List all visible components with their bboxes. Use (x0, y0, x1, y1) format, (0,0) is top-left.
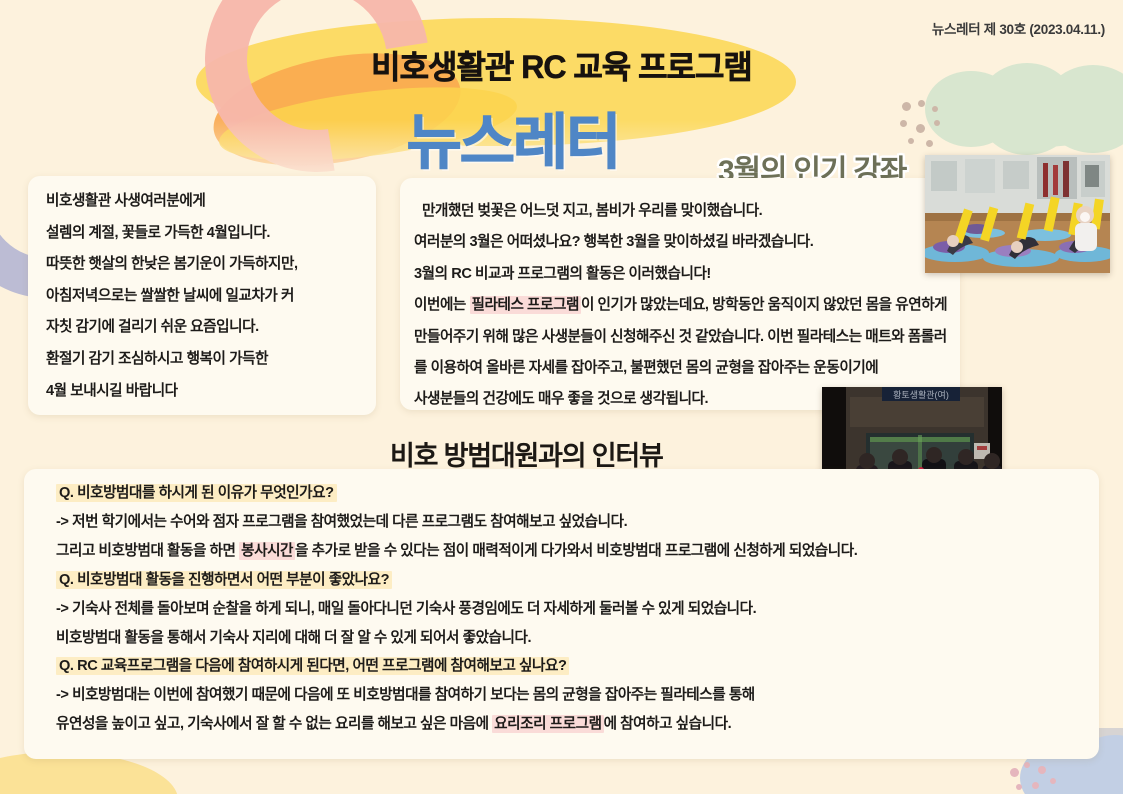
greeting-line: 환절기 감기 조심하시고 행복이 가득한 (46, 344, 298, 376)
greeting-line: 따뜻한 햇살의 한낮은 봄기운이 가득하지만, (46, 249, 298, 281)
pilates-class-photo (925, 155, 1110, 273)
issue-number: 뉴스레터 제 30호 (2023.04.11.) (932, 18, 1105, 38)
interview-question-1: Q. 비호방범대를 하시게 된 이유가 무엇인가요? (56, 479, 857, 508)
popular-line: 만들어주기 위해 많은 사생분들이 신청해주신 것 같았습니다. 이번 필라테스… (414, 322, 947, 353)
interview-answer-3-line-2: 유연성을 높이고 싶고, 기숙사에서 잘 할 수 없는 요리를 해보고 싶은 마… (56, 710, 857, 739)
dot-cluster-bottom-right (1010, 762, 1070, 794)
answer-part: 에 참여하고 싶습니다. (604, 716, 732, 732)
page-subtitle: 뉴스레터 (298, 94, 728, 181)
popular-line-part: 이 인기가 많았는데요, 방학동안 움직이지 않았던 몸을 유연하게 (581, 297, 947, 313)
interview-answer-2-line-1: -> 기숙사 전체를 돌아보며 순찰을 하게 되니, 매일 돌아다니던 기숙사 … (56, 595, 857, 624)
interview-question-2: Q. 비호방범대 활동을 진행하면서 어떤 부분이 좋았나요? (56, 566, 857, 595)
greeting-line: 아침저녁으로는 쌀쌀한 날씨에 일교차가 커 (46, 281, 298, 313)
greeting-line: 자칫 감기에 걸리기 쉬운 요즘입니다. (46, 312, 298, 344)
dot-cluster-top-right (900, 100, 960, 150)
highlight-pilates-program: 필라테스 프로그램 (470, 296, 581, 314)
question-1-text: Q. 비호방범대를 하시게 된 이유가 무엇인가요? (56, 484, 337, 502)
greeting-text-block: 비호생활관 사생여러분에게 설렘의 계절, 꽃들로 가득한 4월입니다. 따뜻한… (46, 186, 298, 407)
answer-part: 그리고 비호방범대 활동을 하면 (56, 543, 239, 559)
interview-section-title: 비호 방범대원과의 인터뷰 (390, 434, 663, 473)
interview-qa-block: Q. 비호방범대를 하시게 된 이유가 무엇인가요? -> 저번 학기에서는 수… (56, 479, 857, 739)
greeting-lead: 비호생활관 사생여러분에게 (46, 186, 298, 218)
highlight-volunteer-hours: 봉사시간 (239, 542, 295, 560)
highlight-cooking-program: 요리조리 프로그램 (492, 715, 603, 733)
question-3-text: Q. RC 교육프로그램을 다음에 참여하시게 된다면, 어떤 프로그램에 참여… (56, 657, 569, 675)
newsletter-page: 뉴스레터 제 30호 (2023.04.11.) 비호생활관 RC 교육 프로그… (0, 0, 1123, 794)
interview-question-3: Q. RC 교육프로그램을 다음에 참여하시게 된다면, 어떤 프로그램에 참여… (56, 652, 857, 681)
popular-line: 를 이용하여 올바른 자세를 잡아주고, 불편했던 몸의 균형을 잡아주는 운동… (414, 353, 947, 384)
popular-line: 만개했던 벚꽃은 어느덧 지고, 봄비가 우리를 맞이했습니다. (414, 196, 947, 227)
interview-answer-1-line-2: 그리고 비호방범대 활동을 하면 봉사시간을 추가로 받을 수 있다는 점이 매… (56, 537, 857, 566)
greeting-line: 설렘의 계절, 꽃들로 가득한 4월입니다. (46, 218, 298, 250)
answer-part: 유연성을 높이고 싶고, 기숙사에서 잘 할 수 없는 요리를 해보고 싶은 마… (56, 716, 492, 732)
popular-line: 여러분의 3월은 어떠셨나요? 행복한 3월을 맞이하셨길 바라겠습니다. (414, 227, 947, 258)
popular-line-highlighted: 이번에는 필라테스 프로그램이 인기가 많았는데요, 방학동안 움직이지 않았던… (414, 290, 947, 321)
popular-line-emphasis: 3월의 RC 비교과 프로그램의 활동은 이러했습니다! (414, 259, 947, 290)
popular-line-part: 이번에는 (414, 297, 470, 313)
interview-answer-2-line-2: 비호방범대 활동을 통해서 기숙사 지리에 대해 더 잘 알 수 있게 되어서 … (56, 624, 857, 653)
question-2-text: Q. 비호방범대 활동을 진행하면서 어떤 부분이 좋았나요? (56, 571, 392, 589)
pilates-photo-graphic (925, 155, 1110, 273)
answer-part: 을 추가로 받을 수 있다는 점이 매력적이게 다가와서 비호방범대 프로그램에… (295, 543, 857, 559)
interview-answer-3-line-1: -> 비호방범대는 이번에 참여했기 때문에 다음에 또 비호방범대를 참여하기… (56, 681, 857, 710)
page-title: 비호생활관 RC 교육 프로그램 (0, 42, 1123, 88)
interview-answer-1-line-1: -> 저번 학기에서는 수어와 점자 프로그램을 참여했었는데 다른 프로그램도… (56, 508, 857, 537)
greeting-line: 4월 보내시길 바랍니다 (46, 376, 298, 408)
popular-course-text-block: 만개했던 벚꽃은 어느덧 지고, 봄비가 우리를 맞이했습니다. 여러분의 3월… (414, 196, 947, 416)
